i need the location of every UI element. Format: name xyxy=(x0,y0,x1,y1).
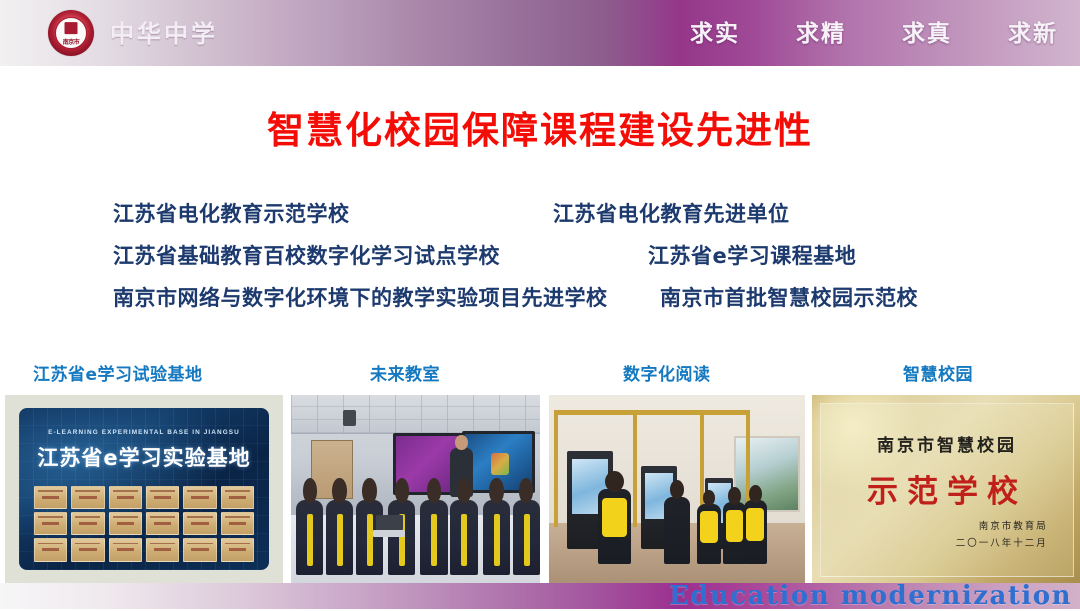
yellow-vest xyxy=(602,498,627,537)
honors-list: 江苏省电化教育示范学校 江苏省电化教育先进单位 江苏省基础教育百校数字化学习试点… xyxy=(0,198,1080,324)
photo-strip: E-LEARNING EXPERIMENTAL BASE IN JIANGSU … xyxy=(0,395,1080,583)
student-figure xyxy=(420,500,447,575)
plaque xyxy=(71,486,104,509)
plaque-date: 二〇一八年十二月 xyxy=(956,535,1048,549)
laptop xyxy=(376,515,403,530)
student-figure xyxy=(664,497,690,565)
student-figure xyxy=(513,500,540,575)
student-figure xyxy=(450,500,477,575)
school-logo: 南京市 xyxy=(48,10,94,56)
school-seal-icon: 南京市 xyxy=(48,10,94,56)
plaque xyxy=(146,538,179,561)
plaque xyxy=(109,512,142,535)
window xyxy=(734,436,799,511)
plaque xyxy=(146,512,179,535)
display-board: E-LEARNING EXPERIMENTAL BASE IN JIANGSU … xyxy=(19,408,269,570)
plaque xyxy=(221,512,254,535)
nav-item-qiuzhen[interactable]: 求真 xyxy=(902,14,952,48)
ornate-frame-top xyxy=(636,410,703,415)
student-figure xyxy=(326,500,353,575)
board-english-title: E-LEARNING EXPERIMENTAL BASE IN JIANGSU xyxy=(19,429,269,436)
plaque xyxy=(221,486,254,509)
speaker xyxy=(343,410,356,426)
plaque xyxy=(34,512,67,535)
photo-captions: 江苏省e学习试验基地 未来教室 数字化阅读 智慧校园 xyxy=(0,360,1080,388)
photo-body xyxy=(291,395,540,583)
plaque xyxy=(71,538,104,561)
plaque xyxy=(183,512,216,535)
plaque-issuer: 南京市教育局 xyxy=(979,518,1048,532)
award-plaque: 南京市智慧校园 示范学校 南京市教育局 二〇一八年十二月 xyxy=(820,403,1074,578)
honor-text: 江苏省基础教育百校数字化学习试点学校 xyxy=(113,240,500,270)
nav-item-qiuxin[interactable]: 求新 xyxy=(1008,14,1058,48)
nav-item-qiujing[interactable]: 求精 xyxy=(796,14,846,48)
ceiling xyxy=(291,395,540,434)
student-figure xyxy=(697,504,720,564)
photo-caption: 智慧校园 xyxy=(903,360,973,385)
plaque xyxy=(34,486,67,509)
plaque xyxy=(221,538,254,561)
seal-ring-text: 南京市 xyxy=(63,37,80,46)
plaque xyxy=(71,512,104,535)
plaque xyxy=(146,486,179,509)
yellow-vest xyxy=(700,511,718,542)
plaque xyxy=(34,538,67,561)
photo-caption: 未来教室 xyxy=(370,360,440,385)
board-chinese-title: 江苏省e学习实验基地 xyxy=(19,442,269,472)
plaque-title: 南京市智慧校园 xyxy=(821,431,1073,456)
student-figure xyxy=(296,500,323,575)
ornate-frame-top xyxy=(703,410,749,415)
honor-text: 江苏省电化教育示范学校 xyxy=(113,198,350,228)
footer-tagline: Education modernization xyxy=(669,581,1072,611)
plaque xyxy=(109,538,142,561)
photo-body xyxy=(549,395,805,583)
slide-title: 智慧化校园保障课程建设先进性 xyxy=(0,100,1080,154)
plaque xyxy=(183,486,216,509)
honor-text: 南京市网络与数字化环境下的教学实验项目先进学校 xyxy=(113,282,608,312)
seal-center-glyph xyxy=(65,22,78,34)
school-name: 中华中学 xyxy=(110,14,218,49)
plaque-subtitle: 示范学校 xyxy=(821,466,1073,511)
student-figure xyxy=(483,500,510,575)
photo-smart-campus-award: 南京市智慧校园 示范学校 南京市教育局 二〇一八年十二月 xyxy=(812,395,1080,583)
student-figure xyxy=(356,500,383,575)
page-footer: Education modernization xyxy=(0,583,1080,609)
plaque xyxy=(109,486,142,509)
ornate-frame-top xyxy=(554,410,636,415)
yellow-vest xyxy=(746,508,764,541)
honor-row: 南京市网络与数字化环境下的教学实验项目先进学校 南京市首批智慧校园示范校 xyxy=(0,282,1080,324)
photo-digital-reading xyxy=(549,395,805,583)
student-figure xyxy=(388,500,415,575)
ornate-frame-post xyxy=(554,410,558,527)
photo-caption: 数字化阅读 xyxy=(623,360,711,385)
student-figure xyxy=(723,502,746,564)
honor-row: 江苏省基础教育百校数字化学习试点学校 江苏省e学习课程基地 xyxy=(0,240,1080,282)
honor-text: 江苏省电化教育先进单位 xyxy=(553,198,790,228)
yellow-vest xyxy=(726,510,744,542)
honor-text: 南京市首批智慧校园示范校 xyxy=(660,282,918,312)
student-figure xyxy=(598,489,631,564)
plaque xyxy=(183,538,216,561)
honor-row: 江苏省电化教育示范学校 江苏省电化教育先进单位 xyxy=(0,198,1080,240)
photo-future-classroom xyxy=(291,395,540,583)
photo-elearning-base: E-LEARNING EXPERIMENTAL BASE IN JIANGSU … xyxy=(5,395,283,583)
header-nav: 求实 求精 求真 求新 xyxy=(690,14,1058,48)
photo-caption: 江苏省e学习试验基地 xyxy=(33,360,203,385)
photo-body: E-LEARNING EXPERIMENTAL BASE IN JIANGSU … xyxy=(5,395,283,583)
plaque-grid xyxy=(34,486,254,562)
photo-body: 南京市智慧校园 示范学校 南京市教育局 二〇一八年十二月 xyxy=(812,395,1080,583)
page-header: 南京市 中华中学 求实 求精 求真 求新 xyxy=(0,0,1080,66)
ornate-frame-post xyxy=(633,410,637,527)
student-figure xyxy=(744,500,767,564)
honor-text: 江苏省e学习课程基地 xyxy=(648,240,856,270)
nav-item-qiushi[interactable]: 求实 xyxy=(690,14,740,48)
